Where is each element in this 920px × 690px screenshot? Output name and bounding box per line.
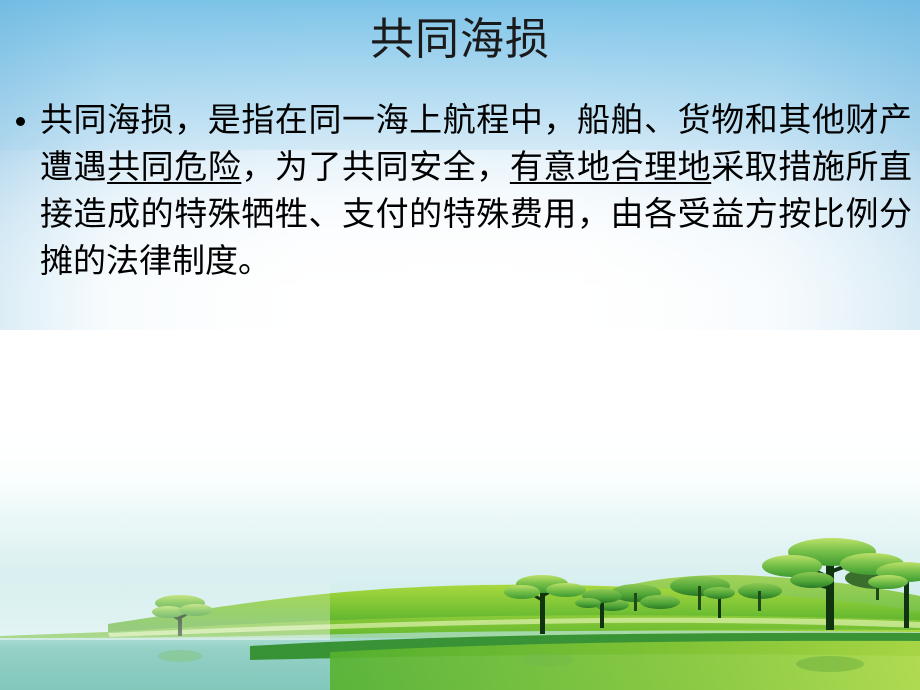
landscape-illustration [0,460,920,690]
bullet-paragraph: 共同海损，是指在同一海上航程中，船舶、货物和其他财产遭遇共同危险，为了共同安全，… [8,98,912,286]
left-atmospheric-fade [0,570,330,640]
body-segment-3: ，为了共同安全， [241,150,509,186]
bullet-point-icon [16,117,25,126]
slide-title: 共同海损 [0,14,920,66]
presentation-slide: 共同海损 共同海损，是指在同一海上航程中，船舶、货物和其他财产遭遇共同危险，为了… [0,0,920,690]
body-text: 共同海损，是指在同一海上航程中，船舶、货物和其他财产遭遇共同危险，为了共同安全，… [40,98,912,286]
body-segment-4-underlined: 有意地合理地 [510,150,711,186]
body-segment-2-underlined: 共同危险 [107,150,241,186]
